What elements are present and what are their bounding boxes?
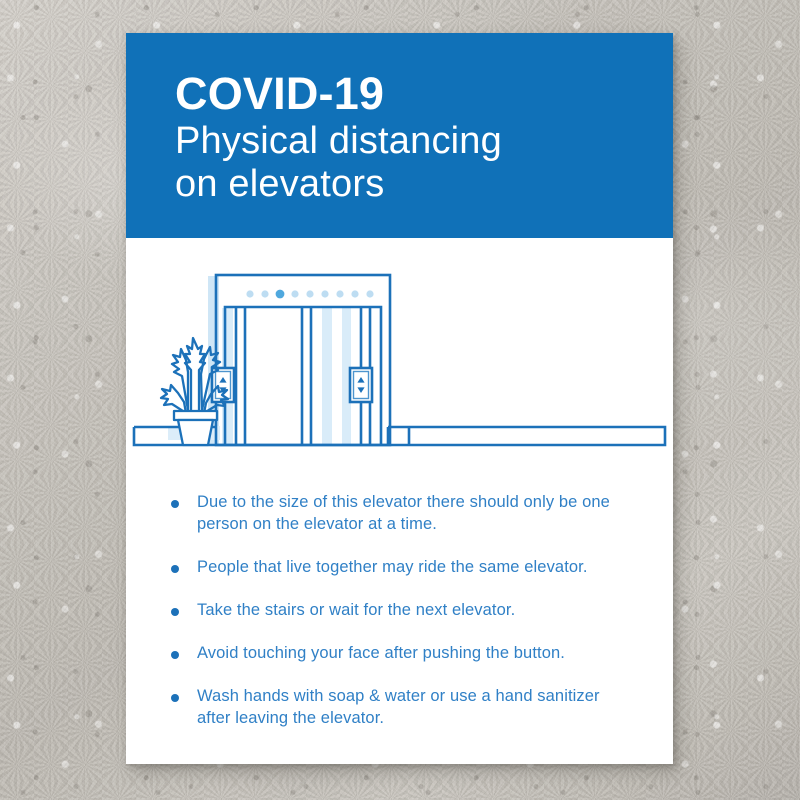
poster: COVID-19 Physical distancing on elevator…	[126, 33, 673, 764]
page-title: COVID-19	[175, 69, 673, 119]
bullet-dot-icon	[171, 500, 179, 508]
list-item-label: Due to the size of this elevator there s…	[197, 491, 633, 535]
indicator-light-5	[306, 290, 313, 297]
right-call-panel[interactable]	[350, 368, 372, 402]
indicator-light-8	[351, 290, 358, 297]
page-subtitle-line-1: Physical distancing	[175, 120, 673, 163]
list-item-label: Take the stairs or wait for the next ele…	[197, 599, 515, 621]
list-item: Due to the size of this elevator there s…	[171, 491, 633, 535]
elevator-illustration	[126, 250, 673, 488]
plant-pot-body	[178, 420, 213, 445]
list-item: People that live together may ride the s…	[171, 556, 633, 578]
elevator-illustration-svg	[126, 250, 673, 488]
scene: COVID-19 Physical distancing on elevator…	[0, 0, 800, 800]
page-subtitle-line-2: on elevators	[175, 163, 673, 206]
list-item: Take the stairs or wait for the next ele…	[171, 599, 633, 621]
indicator-light-2	[261, 290, 268, 297]
list-item: Wash hands with soap & water or use a ha…	[171, 685, 633, 729]
indicator-light-9	[366, 290, 373, 297]
plant-leaf-left	[172, 349, 188, 410]
bullet-dot-icon	[171, 651, 179, 659]
elevator-door-left	[236, 308, 302, 445]
list-item: Avoid touching your face after pushing t…	[171, 642, 633, 664]
list-item-label: Wash hands with soap & water or use a ha…	[197, 685, 633, 729]
plant-leaf-lower-left	[161, 385, 186, 413]
indicator-light-1	[246, 290, 253, 297]
indicator-light-6	[321, 290, 328, 297]
page-subtitle: Physical distancing on elevators	[175, 120, 673, 206]
indicator-light-3-active	[276, 290, 285, 299]
indicator-light-7	[336, 290, 343, 297]
list-item-label: People that live together may ride the s…	[197, 556, 588, 578]
poster-header-band: COVID-19 Physical distancing on elevator…	[126, 33, 673, 238]
list-item-label: Avoid touching your face after pushing t…	[197, 642, 565, 664]
floor-indicator-lights	[246, 290, 373, 299]
bullet-dot-icon	[171, 608, 179, 616]
bullet-dot-icon	[171, 565, 179, 573]
plant-pot-rim	[174, 411, 217, 420]
bullet-dot-icon	[171, 694, 179, 702]
indicator-light-4	[291, 290, 298, 297]
guidelines-list: Due to the size of this elevator there s…	[171, 491, 633, 729]
